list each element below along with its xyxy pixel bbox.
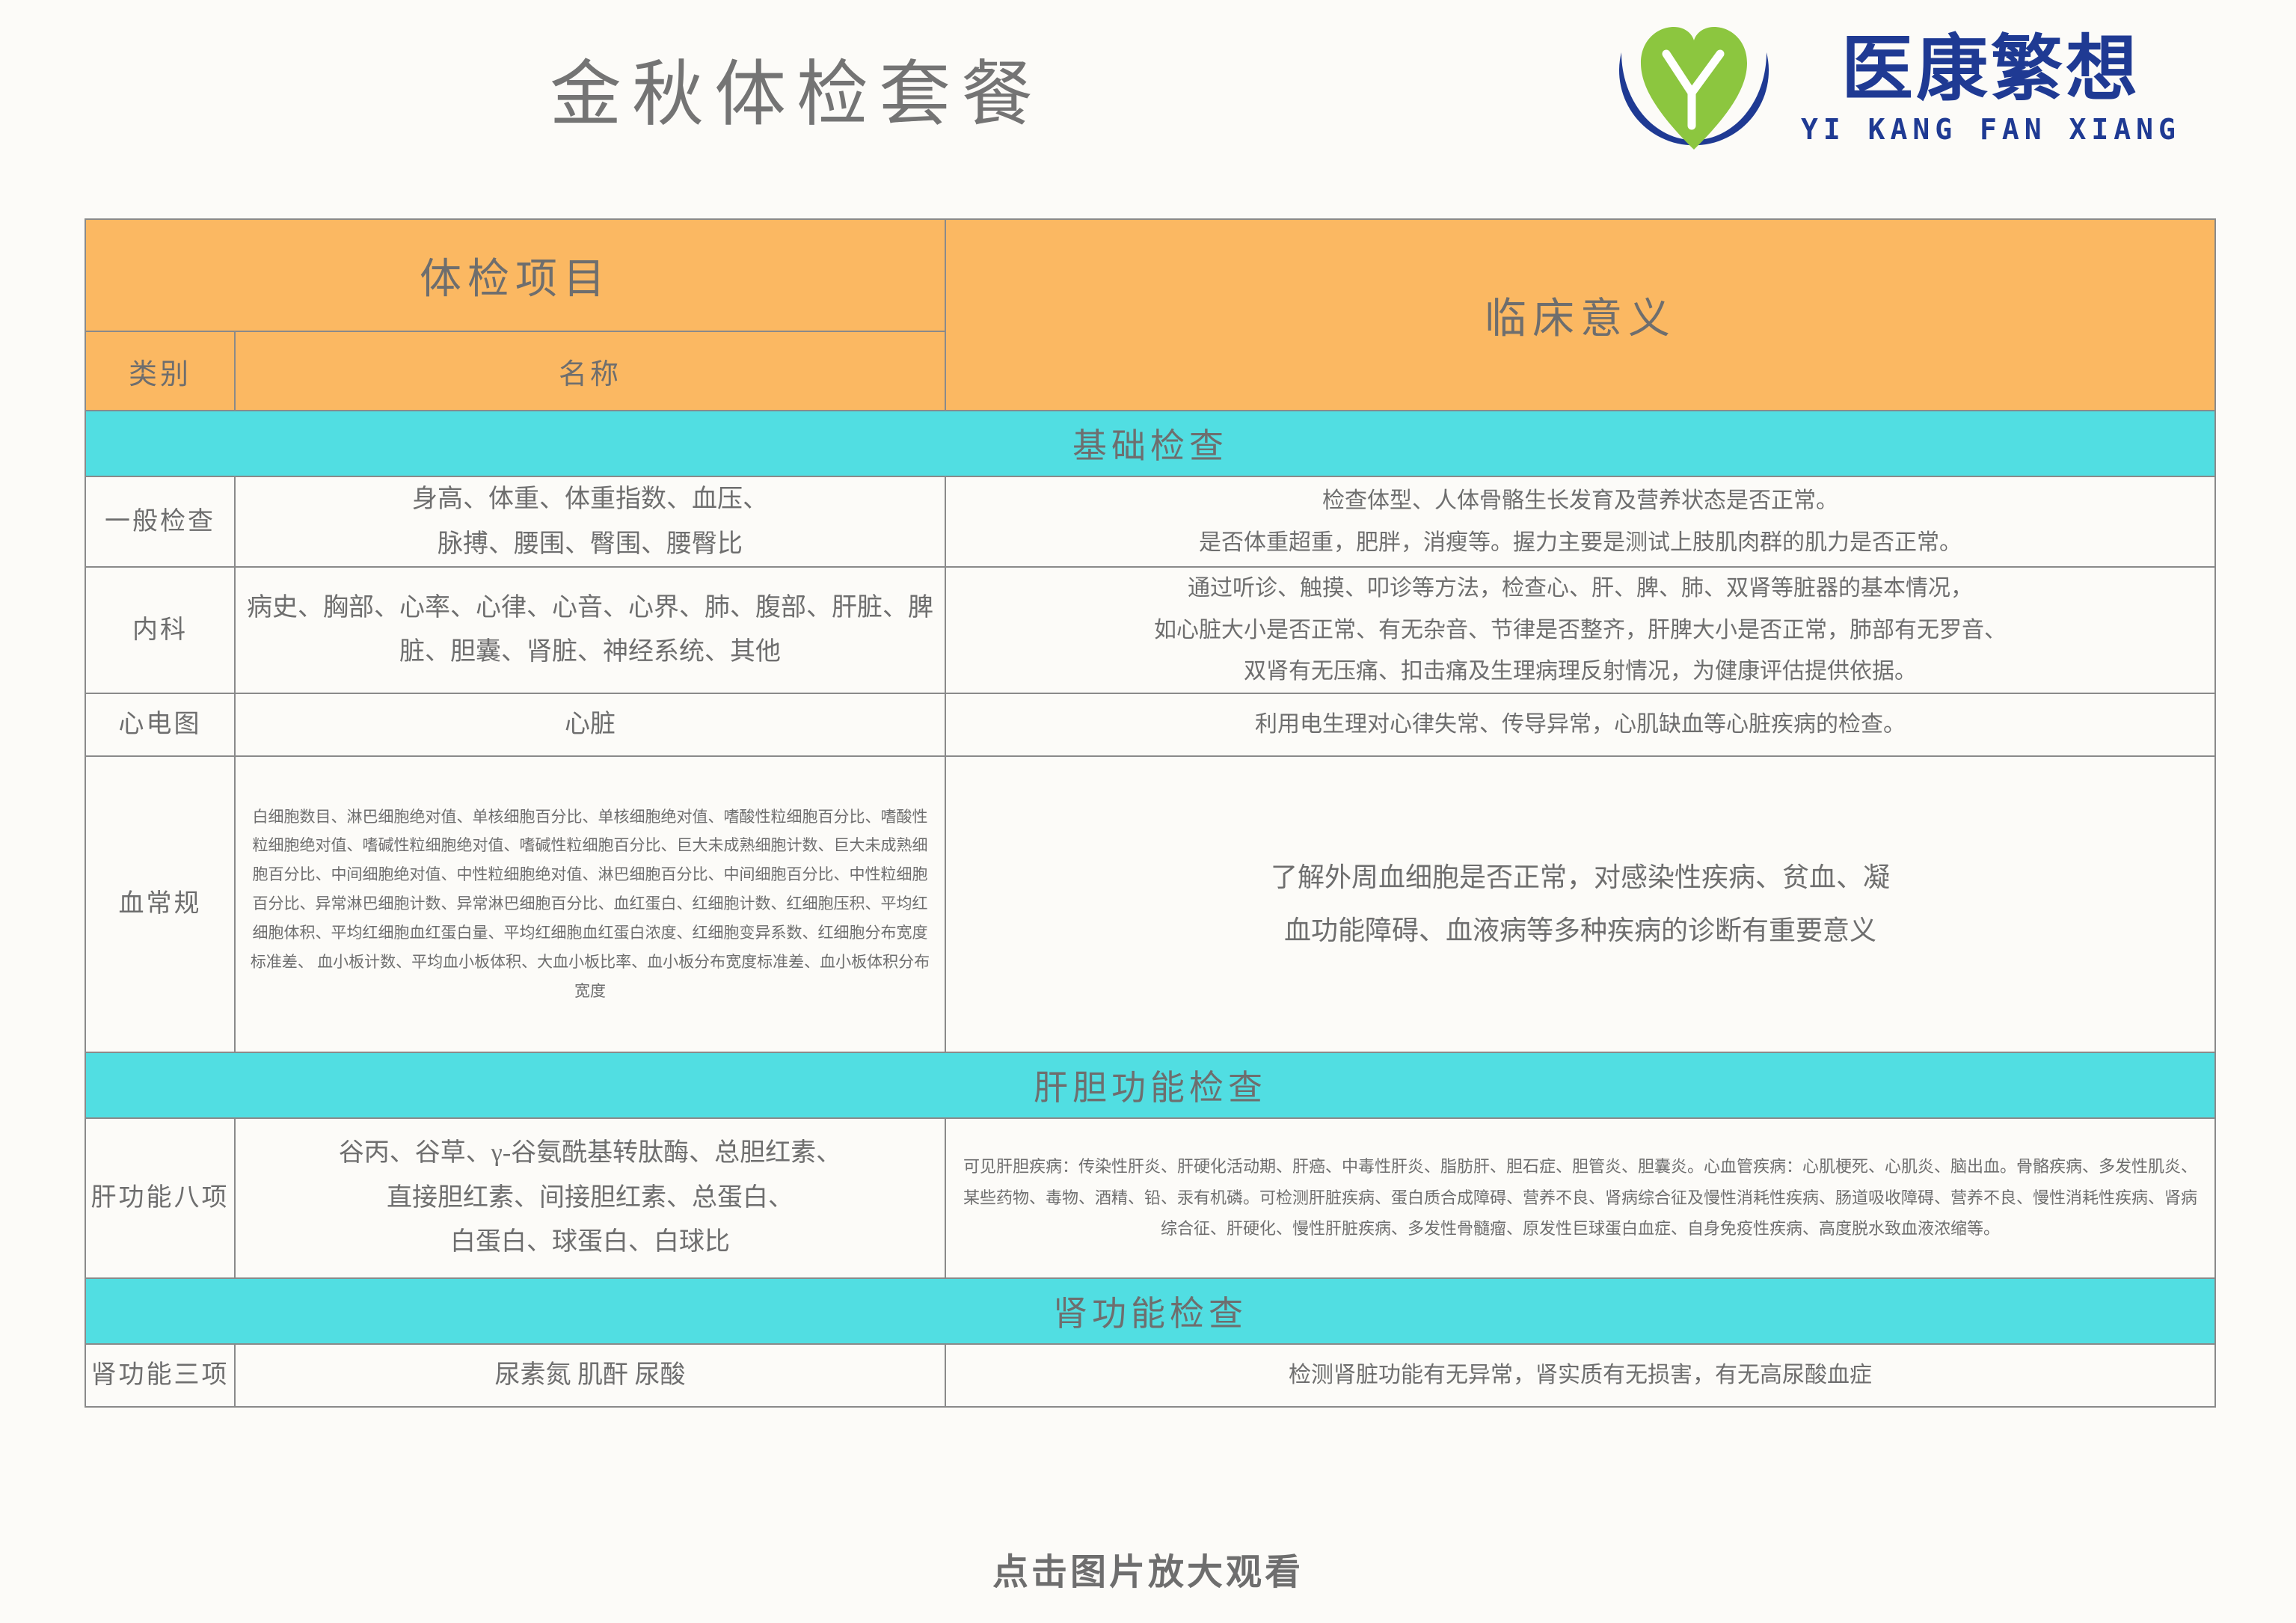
table-header-row-1: 体检项目 临床意义 <box>85 219 2215 331</box>
logo-heart-crescent-icon <box>1608 13 1780 163</box>
row-category-general: 一般检查 <box>85 476 235 567</box>
table-row: 心电图 心脏 利用电生理对心律失常、传导异常，心肌缺血等心脏疾病的检查。 <box>85 693 2215 756</box>
header-clinical-meaning: 临床意义 <box>945 219 2215 411</box>
row-category-ecg: 心电图 <box>85 693 235 756</box>
row-name-general: 身高、体重、体重指数、血压、脉搏、腰围、臀围、腰臀比 <box>235 476 945 567</box>
row-category-liver-function: 肝功能八项 <box>85 1118 235 1278</box>
table-row: 肝功能八项 谷丙、谷草、γ-谷氨酰基转肽酶、总胆红素、直接胆红素、间接胆红素、总… <box>85 1118 2215 1278</box>
table-row: 肾功能三项 尿素氮 肌酐 尿酸 检测肾脏功能有无异常，肾实质有无损害，有无高尿酸… <box>85 1344 2215 1407</box>
row-name-kidney-function: 尿素氮 肌酐 尿酸 <box>235 1344 945 1407</box>
exam-table-wrapper: 体检项目 临床意义 类别 名称 基础检查 一般检查 身高、体重、体重指数、血压、… <box>85 218 2214 1408</box>
page-header: 金秋体检套餐 医康繁想 YI KANG FAN XIANG <box>0 0 2296 180</box>
footer-note: 点击图片放大观看 <box>0 1542 2296 1595</box>
section-title-liver-gallbladder: 肝胆功能检查 <box>85 1052 2215 1118</box>
row-clinical-internal-medicine: 通过听诊、触摸、叩诊等方法，检查心、肝、脾、肺、双肾等脏器的基本情况，如心脏大小… <box>945 567 2215 693</box>
section-header-row: 基础检查 <box>85 411 2215 476</box>
row-clinical-blood-routine: 了解外周血细胞是否正常，对感染性疾病、贫血、凝血功能障碍、血液病等多种疾病的诊断… <box>945 756 2215 1052</box>
logo-text-block: 医康繁想 YI KANG FAN XIANG <box>1801 33 2181 144</box>
row-category-internal-medicine: 内科 <box>85 567 235 693</box>
page-title: 金秋体检套餐 <box>0 36 1593 140</box>
section-header-row: 肾功能检查 <box>85 1278 2215 1344</box>
row-category-blood-routine: 血常规 <box>85 756 235 1052</box>
row-name-internal-medicine: 病史、胸部、心率、心律、心音、心界、肺、腹部、肝脏、脾脏、胆囊、肾脏、神经系统、… <box>235 567 945 693</box>
row-clinical-liver-function: 可见肝胆疾病：传染性肝炎、肝硬化活动期、肝癌、中毒性肝炎、脂肪肝、胆石症、胆管炎… <box>945 1118 2215 1278</box>
row-name-liver-function: 谷丙、谷草、γ-谷氨酰基转肽酶、总胆红素、直接胆红素、间接胆红素、总蛋白、白蛋白… <box>235 1118 945 1278</box>
section-header-row: 肝胆功能检查 <box>85 1052 2215 1118</box>
section-title-kidney: 肾功能检查 <box>85 1278 2215 1344</box>
row-category-kidney-function: 肾功能三项 <box>85 1344 235 1407</box>
row-name-ecg: 心脏 <box>235 693 945 756</box>
row-clinical-general: 检查体型、人体骨骼生长发育及营养状态是否正常。是否体重超重，肥胖，消瘦等。握力主… <box>945 476 2215 567</box>
header-category: 类别 <box>85 331 235 411</box>
table-row: 一般检查 身高、体重、体重指数、血压、脉搏、腰围、臀围、腰臀比 检查体型、人体骨… <box>85 476 2215 567</box>
header-name: 名称 <box>235 331 945 411</box>
row-clinical-kidney-function: 检测肾脏功能有无异常，肾实质有无损害，有无高尿酸血症 <box>945 1344 2215 1407</box>
row-name-blood-routine: 白细胞数目、淋巴细胞绝对值、单核细胞百分比、单核细胞绝对值、嗜酸性粒细胞百分比、… <box>235 756 945 1052</box>
logo-brand-cn: 医康繁想 <box>1841 33 2140 105</box>
table-row: 内科 病史、胸部、心率、心律、心音、心界、肺、腹部、肝脏、脾脏、胆囊、肾脏、神经… <box>85 567 2215 693</box>
row-clinical-ecg: 利用电生理对心律失常、传导异常，心肌缺血等心脏疾病的检查。 <box>945 693 2215 756</box>
logo-brand-en: YI KANG FAN XIANG <box>1801 115 2181 144</box>
header-exam-item: 体检项目 <box>85 219 945 331</box>
brand-logo: 医康繁想 YI KANG FAN XIANG <box>1608 6 2281 171</box>
section-title-basic: 基础检查 <box>85 411 2215 476</box>
table-row: 血常规 白细胞数目、淋巴细胞绝对值、单核细胞百分比、单核细胞绝对值、嗜酸性粒细胞… <box>85 756 2215 1052</box>
exam-package-table: 体检项目 临床意义 类别 名称 基础检查 一般检查 身高、体重、体重指数、血压、… <box>85 218 2216 1408</box>
